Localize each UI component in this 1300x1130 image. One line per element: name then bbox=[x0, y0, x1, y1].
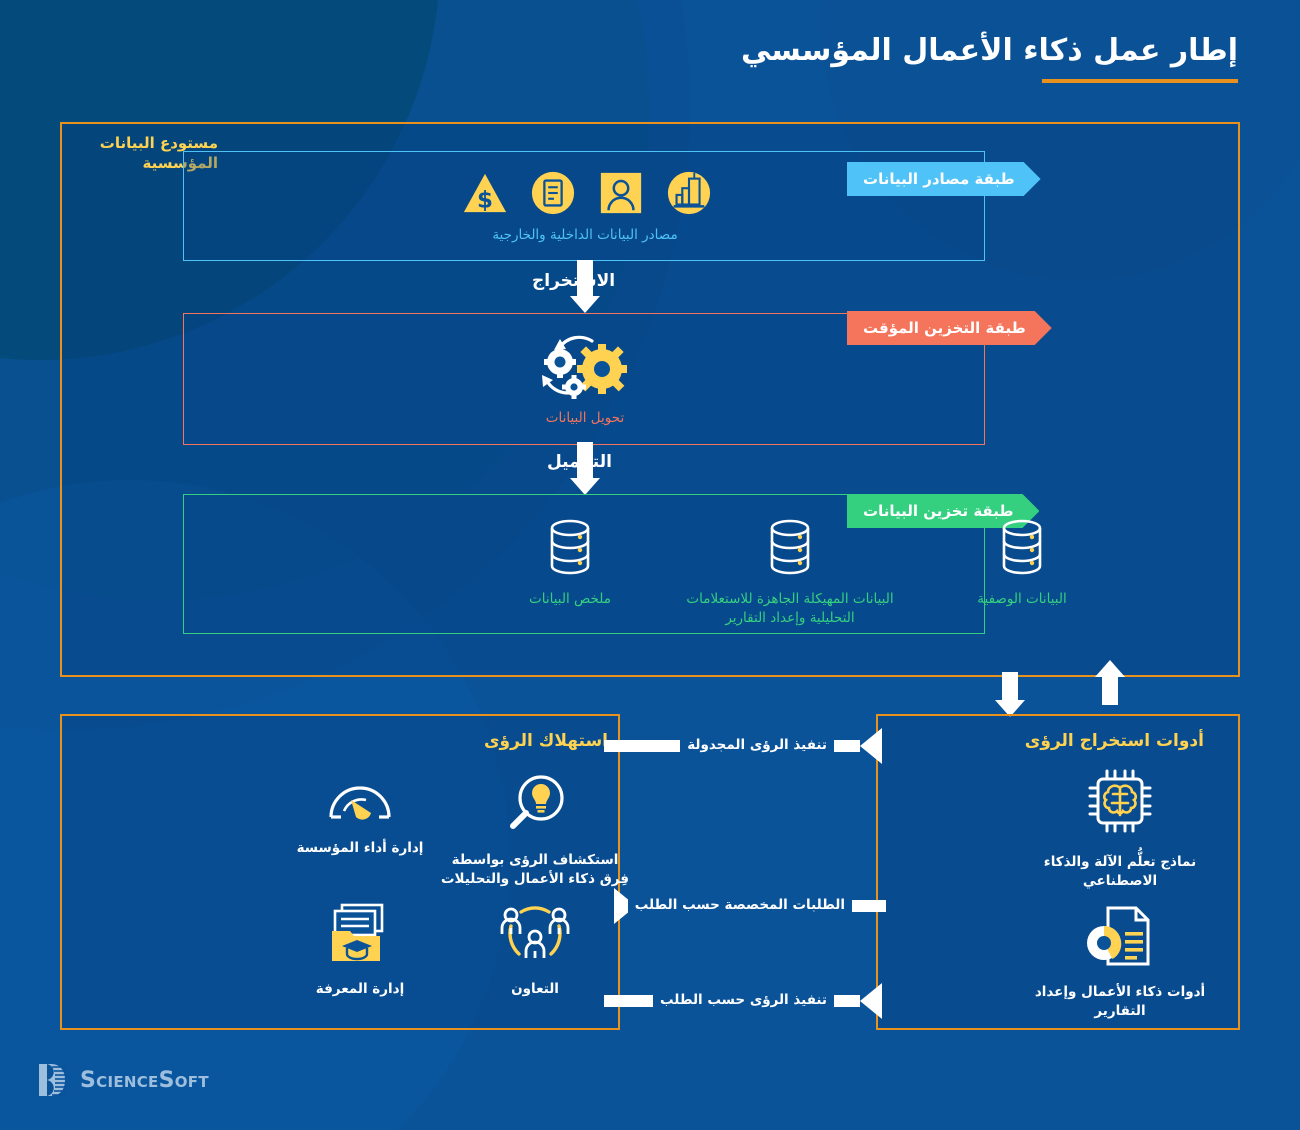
connector-ad-hoc-requests: الطلبات المخصصة حسب الطلب bbox=[614, 888, 886, 924]
title-underline bbox=[1042, 79, 1238, 83]
tools-to-edw-arrow bbox=[1095, 660, 1125, 705]
consumption-item-label: استكشاف الرؤى بواسطة فِرق ذكاء الأعمال و… bbox=[435, 851, 635, 889]
consumption-item-insight-exploration: استكشاف الرؤى بواسطة فِرق ذكاء الأعمال و… bbox=[435, 773, 635, 889]
edw-to-tools-arrow bbox=[995, 672, 1025, 717]
data-sources-caption: مصادر البيانات الداخلية والخارجية bbox=[420, 226, 750, 244]
consumption-item-label: إدارة المعرفة bbox=[265, 980, 455, 999]
database-cylinder-icon bbox=[996, 518, 1048, 576]
storage-item-structured: البيانات المهيكلة الجاهزة للاستعلامات ال… bbox=[675, 518, 905, 628]
load-arrow bbox=[570, 442, 600, 495]
finance-dollar-triangle-icon: $ bbox=[462, 170, 508, 216]
database-cylinder-icon bbox=[544, 518, 596, 576]
page-title: إطار عمل ذكاء الأعمال المؤسسي bbox=[741, 32, 1238, 70]
staging-layer-tag: طبقة التخزين المؤقت bbox=[847, 311, 1052, 345]
infographic-canvas: إطار عمل ذكاء الأعمال المؤسسي مستودع الب… bbox=[0, 0, 1300, 1130]
tools-item-label: أدوات ذكاء الأعمال وإعداد التقارير bbox=[1020, 983, 1220, 1021]
ai-chip-brain-icon bbox=[1084, 765, 1156, 837]
consumption-item-knowledge-management: إدارة المعرفة bbox=[265, 902, 455, 999]
storage-item-label: البيانات الوصفية bbox=[922, 590, 1122, 609]
sciencesoft-logo: ScienceSoft bbox=[36, 1062, 209, 1098]
database-cylinder-icon bbox=[764, 518, 816, 576]
person-square-icon bbox=[598, 170, 644, 216]
connector-scheduled-insights: تنفيذ الرؤى المجدولة bbox=[604, 728, 882, 764]
staging-caption: تحويل البيانات bbox=[485, 409, 685, 427]
insights-consumption-heading: استهلاك الرؤى bbox=[484, 731, 608, 751]
title-block: إطار عمل ذكاء الأعمال المؤسسي bbox=[741, 32, 1238, 83]
extract-arrow bbox=[570, 260, 600, 313]
data-source-icons: $ bbox=[462, 170, 712, 216]
storage-item-metadata: البيانات الوصفية bbox=[922, 518, 1122, 609]
document-circle-icon bbox=[530, 170, 576, 216]
data-sources-layer-tag: طبقة مصادر البيانات bbox=[847, 162, 1041, 196]
connector-on-demand-insights: تنفيذ الرؤى حسب الطلب bbox=[604, 983, 882, 1019]
building-chart-circle-icon bbox=[666, 170, 712, 216]
consumption-item-performance-management: إدارة أداء المؤسسة bbox=[265, 773, 455, 858]
consumption-item-label: إدارة أداء المؤسسة bbox=[265, 839, 455, 858]
storage-item-label: ملخص البيانات bbox=[470, 590, 670, 609]
tools-item-bi-reporting: أدوات ذكاء الأعمال وإعداد التقارير bbox=[1020, 905, 1220, 1021]
tools-item-label: نماذج تعلُّم الآلة والذكاء الاصطناعي bbox=[1020, 853, 1220, 891]
sciencesoft-logo-icon bbox=[36, 1062, 70, 1098]
connector-label: تنفيذ الرؤى المجدولة bbox=[680, 739, 834, 753]
svg-text:$: $ bbox=[477, 187, 493, 213]
logo-text: ScienceSoft bbox=[80, 1068, 209, 1093]
insight-tools-heading: أدوات استخراج الرؤى bbox=[1025, 731, 1204, 751]
report-donut-chart-icon bbox=[1082, 905, 1158, 967]
storage-item-summary: ملخص البيانات bbox=[470, 518, 670, 609]
storage-item-label: البيانات المهيكلة الجاهزة للاستعلامات ال… bbox=[675, 590, 905, 628]
gauge-icon bbox=[324, 773, 396, 823]
collaboration-people-icon bbox=[497, 902, 573, 964]
connector-label: الطلبات المخصصة حسب الطلب bbox=[628, 899, 852, 913]
connector-label: تنفيذ الرؤى حسب الطلب bbox=[653, 994, 834, 1008]
knowledge-folder-graduation-icon bbox=[326, 902, 394, 964]
gears-transform-icon bbox=[530, 333, 640, 399]
magnifier-lightbulb-icon bbox=[502, 773, 568, 835]
tools-item-ml-ai: نماذج تعلُّم الآلة والذكاء الاصطناعي bbox=[1020, 765, 1220, 891]
